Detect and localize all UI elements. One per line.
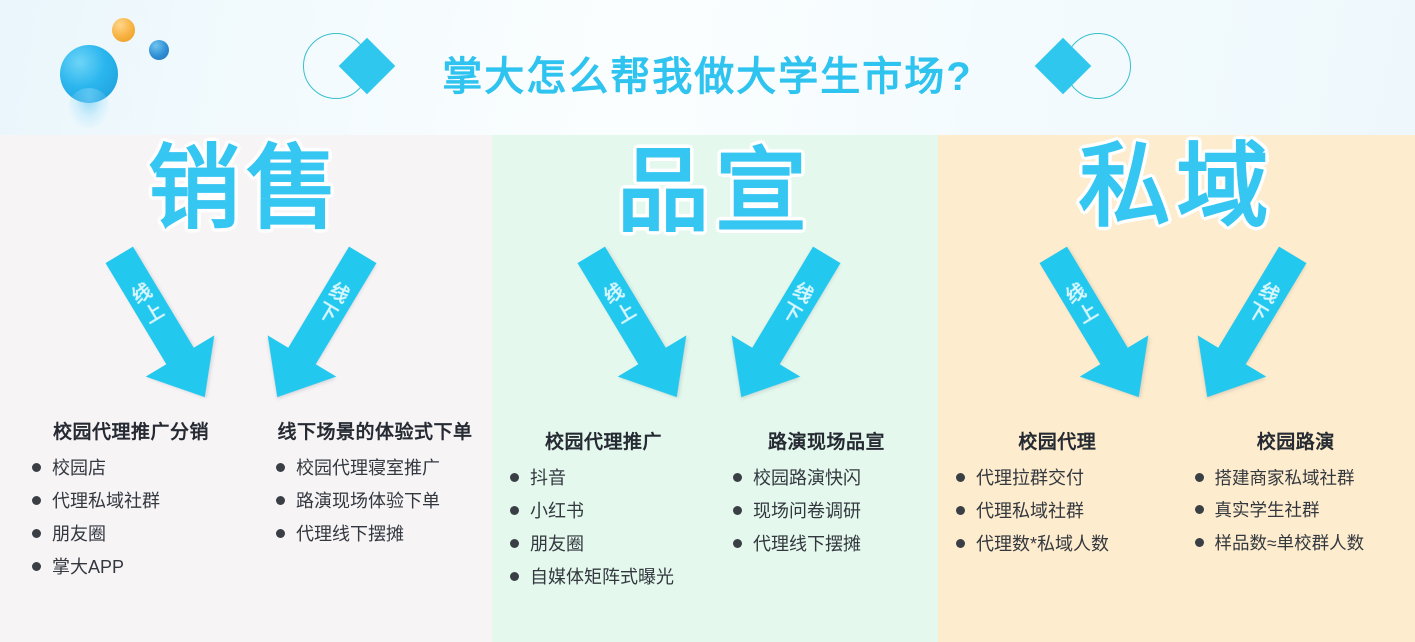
list-title: 线下场景的体验式下单 — [262, 417, 488, 444]
orange-sphere-icon — [112, 18, 135, 42]
right-decoration-group — [1035, 33, 1131, 101]
list-item-label: 路演现场体验下单 — [296, 487, 440, 516]
arrow-offline: 线 下 — [707, 234, 861, 417]
list-item: 抖音 — [510, 464, 711, 493]
panel-private-domain: 私域 线 上 线 下 — [938, 135, 1415, 642]
bullet-icon — [276, 529, 285, 538]
header-band: 掌大怎么帮我做大学生市场? — [0, 0, 1415, 135]
list-item: 掌大APP — [32, 553, 244, 582]
bullet-list: 校园代理寝室推广 路演现场体验下单 代理线下摆摊 — [262, 454, 488, 549]
list-item-label: 代理私域社群 — [52, 487, 160, 516]
list-item: 代理私域社群 — [32, 487, 244, 516]
list-item: 校园路演快闪 — [733, 464, 934, 493]
bullet-list: 代理拉群交付 代理私域社群 代理数*私域人数 — [942, 464, 1173, 559]
arrow-zone: 线 上 线 下 — [492, 243, 938, 418]
list-item-label: 掌大APP — [52, 553, 124, 582]
list-item: 小红书 — [510, 497, 711, 526]
list-item-label: 小红书 — [530, 497, 584, 526]
list-title: 校园代理推广分销 — [18, 417, 244, 444]
arrow-offline: 线 下 — [243, 234, 397, 417]
list-item-label: 自媒体矩阵式曝光 — [530, 563, 674, 592]
list-item: 代理私域社群 — [956, 497, 1173, 526]
bullet-list: 搭建商家私域社群 真实学生社群 样品数≈单校群人数 — [1181, 464, 1412, 557]
list-item-label: 现场问卷调研 — [753, 497, 861, 526]
bullet-icon — [1195, 505, 1204, 514]
list-column: 校园代理 代理拉群交付 代理私域社群 代理数*私域人数 — [938, 427, 1177, 563]
page-title: 掌大怎么帮我做大学生市场? — [0, 44, 1415, 102]
list-item: 路演现场体验下单 — [276, 487, 488, 516]
list-item: 代理数*私域人数 — [956, 530, 1173, 559]
bullet-list: 抖音 小红书 朋友圈 自媒体矩阵式曝光 — [496, 464, 711, 593]
bullet-icon — [276, 463, 285, 472]
list-item-label: 代理拉群交付 — [976, 464, 1084, 493]
list-item-label: 校园路演快闪 — [753, 464, 861, 493]
list-item: 代理线下摆摊 — [276, 520, 488, 549]
list-item: 搭建商家私域社群 — [1195, 464, 1412, 492]
panel-heading: 私域 — [938, 135, 1415, 239]
list-group: 校园代理推广 抖音 小红书 朋友圈 自媒体矩阵式曝光 路演现场品宣 校园路演快闪… — [492, 427, 938, 597]
panel-sales: 销售 线 上 线 下 — [0, 135, 492, 642]
list-column: 线下场景的体验式下单 校园代理寝室推广 路演现场体验下单 代理线下摆摊 — [248, 417, 492, 587]
infographic-canvas: 掌大怎么帮我做大学生市场? 销售 线 上 线 — [0, 0, 1415, 642]
bullet-icon — [276, 496, 285, 505]
list-item-label: 校园代理寝室推广 — [296, 454, 440, 483]
list-item: 校园店 — [32, 454, 244, 483]
arrow-online: 线 上 — [1019, 234, 1173, 417]
bullet-icon — [510, 506, 519, 515]
bullet-icon — [32, 463, 41, 472]
bullet-icon — [510, 473, 519, 482]
bullet-icon — [733, 506, 742, 515]
list-item-label: 样品数≈单校群人数 — [1215, 529, 1365, 557]
list-item: 朋友圈 — [32, 520, 244, 549]
list-column: 路演现场品宣 校园路演快闪 现场问卷调研 代理线下摆摊 — [715, 427, 938, 597]
bullet-list: 校园路演快闪 现场问卷调研 代理线下摆摊 — [719, 464, 934, 559]
bullet-icon — [956, 473, 965, 482]
arrow-offline: 线 下 — [1173, 234, 1327, 417]
list-column: 校园路演 搭建商家私域社群 真实学生社群 样品数≈单校群人数 — [1177, 427, 1415, 563]
bullet-icon — [956, 539, 965, 548]
bullet-icon — [32, 529, 41, 538]
list-column: 校园代理推广分销 校园店 代理私域社群 朋友圈 掌大APP — [0, 417, 248, 587]
list-item-label: 抖音 — [530, 464, 566, 493]
list-title: 校园代理推广 — [496, 427, 711, 454]
list-item: 样品数≈单校群人数 — [1195, 529, 1412, 557]
bullet-list: 校园店 代理私域社群 朋友圈 掌大APP — [18, 454, 244, 583]
panel-heading: 品宣 — [492, 140, 938, 244]
bullet-icon — [733, 473, 742, 482]
bullet-icon — [510, 539, 519, 548]
list-item-label: 代理线下摆摊 — [296, 520, 404, 549]
arrow-zone: 线 上 线 下 — [0, 243, 492, 418]
list-title: 路演现场品宣 — [719, 427, 934, 454]
list-item-label: 代理私域社群 — [976, 497, 1084, 526]
arrow-zone: 线 上 线 下 — [938, 243, 1415, 418]
list-title: 校园路演 — [1181, 427, 1412, 454]
list-item: 现场问卷调研 — [733, 497, 934, 526]
list-item-label: 朋友圈 — [530, 530, 584, 559]
list-item: 自媒体矩阵式曝光 — [510, 563, 711, 592]
list-item-label: 朋友圈 — [52, 520, 106, 549]
list-item: 代理拉群交付 — [956, 464, 1173, 493]
list-group: 校园代理推广分销 校园店 代理私域社群 朋友圈 掌大APP 线下场景的体验式下单… — [0, 417, 492, 587]
list-item-label: 真实学生社群 — [1215, 496, 1320, 524]
list-column: 校园代理推广 抖音 小红书 朋友圈 自媒体矩阵式曝光 — [492, 427, 715, 597]
list-item-label: 代理数*私域人数 — [976, 530, 1109, 559]
list-group: 校园代理 代理拉群交付 代理私域社群 代理数*私域人数 校园路演 搭建商家私域社… — [938, 427, 1415, 563]
list-item: 真实学生社群 — [1195, 496, 1412, 524]
list-item-label: 代理线下摆摊 — [753, 530, 861, 559]
bullet-icon — [510, 572, 519, 581]
list-item: 校园代理寝室推广 — [276, 454, 488, 483]
panel-brand: 品宣 线 上 线 下 — [492, 135, 938, 642]
bullet-icon — [32, 496, 41, 505]
bullet-icon — [956, 506, 965, 515]
list-item: 朋友圈 — [510, 530, 711, 559]
bullet-icon — [1195, 473, 1204, 482]
bullet-icon — [32, 562, 41, 571]
panel-row: 销售 线 上 线 下 — [0, 135, 1415, 642]
bullet-icon — [1195, 538, 1204, 547]
list-item-label: 搭建商家私域社群 — [1215, 464, 1355, 492]
list-item-label: 校园店 — [52, 454, 106, 483]
bullet-icon — [733, 539, 742, 548]
arrow-online: 线 上 — [85, 234, 239, 417]
panel-heading: 销售 — [0, 137, 492, 241]
arrow-online: 线 上 — [557, 234, 711, 417]
list-title: 校园代理 — [942, 427, 1173, 454]
list-item: 代理线下摆摊 — [733, 530, 934, 559]
